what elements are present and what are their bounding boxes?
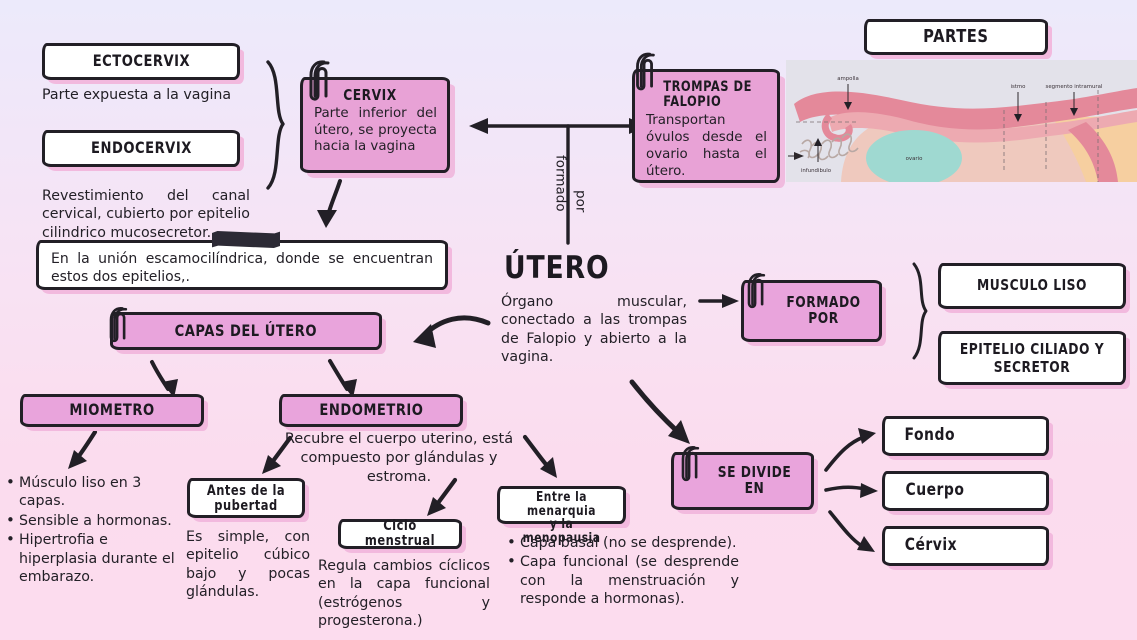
utero-description: Órgano muscular, conectado a las trompas… xyxy=(501,293,687,367)
divide-item-label: Cérvix xyxy=(905,537,957,555)
label-ovario: ovario xyxy=(906,156,923,162)
se-divide-en-title: SE DIVIDE EN xyxy=(708,465,801,497)
endometrio-box[interactable]: ENDOMETRIO xyxy=(279,394,463,427)
arrow-divide-fondo xyxy=(826,437,864,470)
divide-item-cuerpo[interactable]: Cuerpo xyxy=(882,471,1049,511)
miometro-title: MIOMETRO xyxy=(69,402,154,419)
list-item: Sensible a hormonas. xyxy=(6,512,188,530)
arrow-utero-to-divide xyxy=(632,382,678,432)
label-segmento-intramural: segmento intramural xyxy=(1046,84,1103,90)
list-item: Capa basal (no se desprende). xyxy=(507,534,739,552)
page-title: ÚTERO xyxy=(504,250,610,286)
union-text: En la unión escamocilíndrica, donde se e… xyxy=(51,250,433,286)
arrow-endometrio-to-ciclo-head xyxy=(427,497,446,516)
arrow-utero-to-capas xyxy=(424,318,488,335)
arrow-cervix-to-union-head xyxy=(317,210,337,228)
arrow-miometro-to-bullets-head xyxy=(68,450,87,469)
tape-icon xyxy=(212,231,280,248)
arrow-divide-cuerpo xyxy=(826,487,866,490)
list-item: Hipertrofia e hiperplasia durante el emb… xyxy=(6,531,188,586)
miometro-box[interactable]: MIOMETRO xyxy=(20,394,204,427)
cervix-box[interactable]: CERVIX Parte inferior del útero, se proy… xyxy=(300,77,450,173)
formado-item-musculo-liso[interactable]: MUSCULO LISO xyxy=(938,263,1126,309)
formado-item-label: MUSCULO LISO xyxy=(977,278,1087,294)
antes-pubertad-description: Es simple, con epitelio cúbico bajo y po… xyxy=(186,528,310,602)
divide-item-fondo[interactable]: Fondo xyxy=(882,416,1049,456)
se-divide-en-box[interactable]: SE DIVIDE EN xyxy=(671,452,814,510)
trompas-title: TROMPAS DE FALOPIO xyxy=(663,80,756,109)
list-item: Músculo liso en 3 capas. xyxy=(6,474,188,511)
axis-arrowhead-left xyxy=(469,118,488,134)
arrow-divide-cuerpo-head xyxy=(860,483,878,498)
endometrio-title: ENDOMETRIO xyxy=(319,402,423,419)
brace-cervix xyxy=(268,62,283,188)
connector-label-formado: formado xyxy=(552,155,568,212)
ectocervix-title: ECTOCERVIX xyxy=(92,53,189,70)
ciclo-menstrual-box[interactable]: Ciclo menstrual xyxy=(338,519,462,549)
menarquia-title-line1: Entre la menarquia xyxy=(515,491,608,518)
arrow-utero-to-formado-head xyxy=(722,294,739,308)
arrow-divide-fondo-head xyxy=(858,428,876,444)
connector-label-por: por xyxy=(572,190,588,212)
capas-del-utero-box[interactable]: CAPAS DEL ÚTERO xyxy=(110,312,382,350)
divide-item-cervix[interactable]: Cérvix xyxy=(882,526,1049,566)
list-item: Capa funcional (se desprende con la mens… xyxy=(507,553,739,608)
trompas-description: Transportan óvulos desde el ovario hasta… xyxy=(646,112,767,180)
ciclo-menstrual-title: Ciclo menstrual xyxy=(352,519,449,548)
miometro-bullets: Músculo liso en 3 capas. Sensible a horm… xyxy=(6,474,188,588)
menarquia-box[interactable]: Entre la menarquia y la menopausia xyxy=(497,486,626,524)
label-infundibulo: infundibulo xyxy=(801,168,831,174)
ectocervix-box[interactable]: ECTOCERVIX xyxy=(42,43,240,80)
formado-item-label: EPITELIO CILIADO Y SECRETOR xyxy=(957,340,1106,376)
ectocervix-description: Parte expuesta a la vagina xyxy=(42,86,252,104)
divide-item-label: Fondo xyxy=(905,427,955,445)
antes-pubertad-title-line1: Antes de la xyxy=(205,484,287,499)
arrow-endometrio-to-menarquia xyxy=(525,437,549,468)
trompas-falopio-box[interactable]: TROMPAS DE FALOPIO Transportan óvulos de… xyxy=(632,69,780,183)
partes-title: PARTES xyxy=(923,28,988,47)
endometrio-description: Recubre el cuerpo uterino, está compuest… xyxy=(283,430,515,487)
union-escamocilindrica-box[interactable]: En la unión escamocilíndrica, donde se e… xyxy=(36,240,448,290)
formado-por-title: FORMADO POR xyxy=(778,295,869,327)
formado-por-box[interactable]: FORMADO POR xyxy=(741,280,882,342)
brace-formado xyxy=(914,264,926,358)
ciclo-menstrual-description: Regula cambios cíclicos en la capa funci… xyxy=(318,557,490,631)
label-ampolla: ampolla xyxy=(837,76,859,82)
antes-pubertad-box[interactable]: Antes de la pubertad xyxy=(187,478,305,518)
cervix-description: Parte inferior del útero, se proyecta ha… xyxy=(314,106,437,156)
cervix-title: CERVIX xyxy=(343,88,427,104)
arrow-divide-cervix xyxy=(830,512,862,546)
formado-item-epitelio-ciliado[interactable]: EPITELIO CILIADO Y SECRETOR xyxy=(938,331,1126,385)
fallopian-tube-illustration: ovario ampolla istmo segmento intramural… xyxy=(786,60,1137,182)
label-istmo: istmo xyxy=(1011,84,1026,90)
menarquia-bullets: Capa basal (no se desprende). Capa funci… xyxy=(507,534,739,610)
endocervix-box[interactable]: ENDOCERVIX xyxy=(42,130,240,167)
arrow-endometrio-to-antes-head xyxy=(262,455,281,474)
partes-box[interactable]: PARTES xyxy=(864,19,1048,55)
endocervix-title: ENDOCERVIX xyxy=(91,140,192,157)
divide-item-label: Cuerpo xyxy=(905,482,964,500)
antes-pubertad-title-line2: pubertad xyxy=(205,499,287,514)
capas-title: CAPAS DEL ÚTERO xyxy=(175,323,317,340)
